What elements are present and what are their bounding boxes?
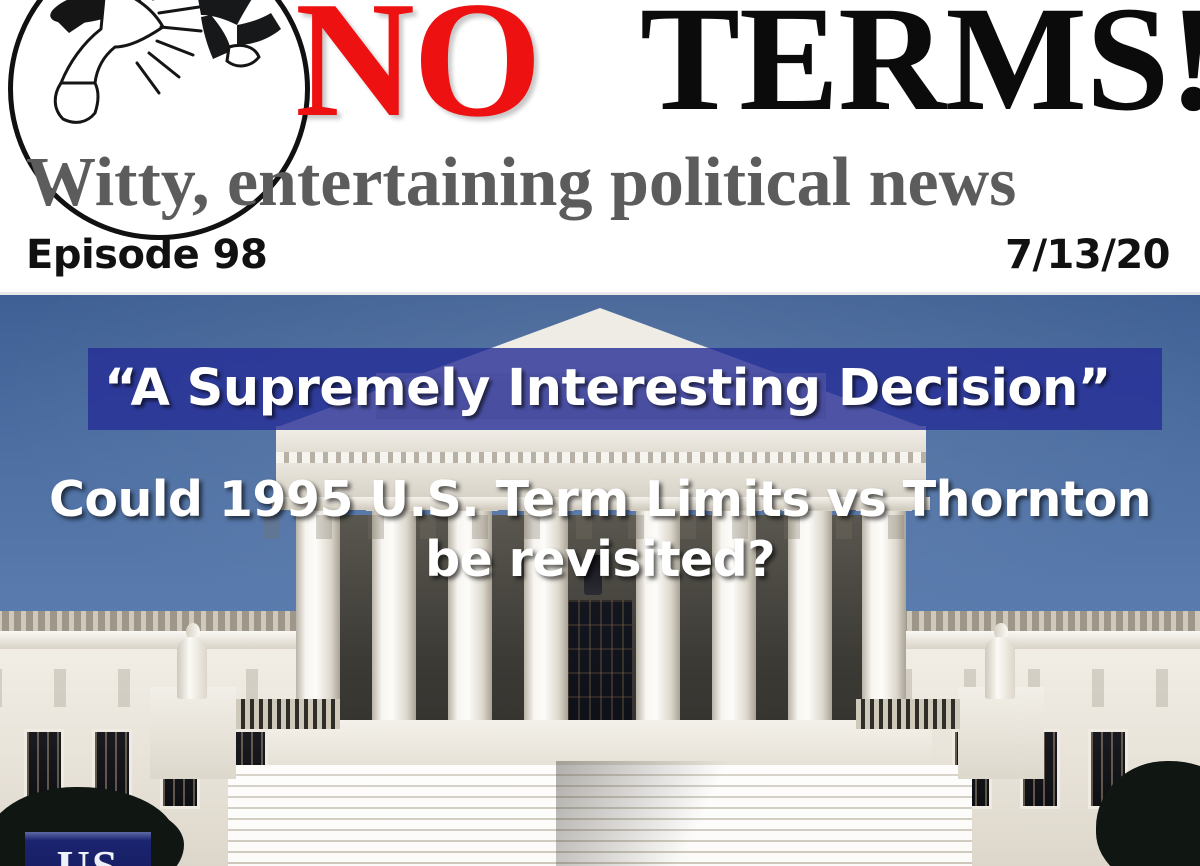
left-wing-cornice xyxy=(0,631,300,649)
statue-contemplation-of-justice xyxy=(166,621,218,699)
issue-info-row: Episode 98 7/13/20 xyxy=(0,231,1200,287)
headline-banner: “A Supremely Interesting Decision” xyxy=(88,348,1162,430)
headline-subtitle: Could 1995 U.S. Term Limits vs Thornton … xyxy=(14,470,1186,590)
balustrade-right xyxy=(856,699,960,729)
step-shadow xyxy=(556,761,786,866)
left-wing-roof xyxy=(0,611,300,631)
newsletter-page: NO TERMS! Witty, entertaining political … xyxy=(0,0,1200,866)
hero-photo-supreme-court: “A Supremely Interesting Decision” Could… xyxy=(0,295,1200,866)
brand-word-no: NO xyxy=(295,0,540,142)
dentil-molding xyxy=(276,452,926,463)
right-wing-cornice xyxy=(900,631,1200,649)
statue-authority-of-law xyxy=(974,621,1026,699)
statue-pedestal-left xyxy=(150,687,236,779)
headline-title: “A Supremely Interesting Decision” xyxy=(88,360,1111,418)
masthead: NO TERMS! Witty, entertaining political … xyxy=(0,0,1200,295)
episode-number: Episode 98 xyxy=(26,231,267,279)
balustrade-left xyxy=(236,699,340,729)
lower-third-badge-label: US xyxy=(25,832,151,866)
issue-date: 7/13/20 xyxy=(1005,231,1170,279)
right-wing-roof xyxy=(900,611,1200,631)
brand-word-terms: TERMS! xyxy=(640,0,1200,134)
tagline: Witty, entertaining political news xyxy=(26,146,1176,220)
lower-third-badge: US xyxy=(25,832,151,866)
statue-pedestal-right xyxy=(958,687,1044,779)
